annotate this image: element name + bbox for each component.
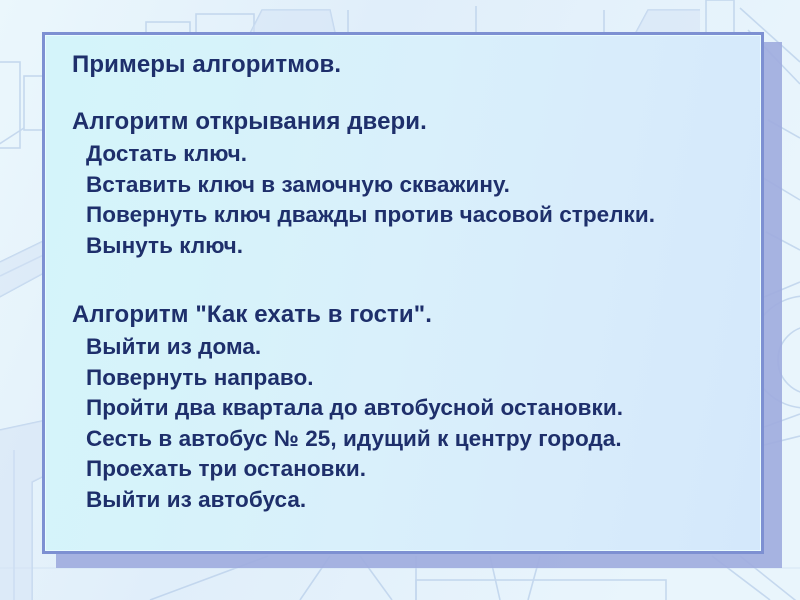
algorithm-step: Повернуть ключ дважды против часовой стр… <box>86 200 751 231</box>
algorithm-section-door: Алгоритм открывания двери. Достать ключ.… <box>72 106 751 261</box>
algorithm-step: Сесть в автобус № 25, идущий к центру го… <box>86 424 751 455</box>
algorithm-step: Выйти из автобуса. <box>86 485 751 516</box>
content-body: Примеры алгоритмов. Алгоритм открывания … <box>72 49 751 545</box>
section-heading: Алгоритм открывания двери. <box>72 106 751 137</box>
title-spacer <box>72 80 751 106</box>
section-spacer <box>72 261 751 299</box>
content-box: Примеры алгоритмов. Алгоритм открывания … <box>42 32 764 554</box>
slide-canvas: Примеры алгоритмов. Алгоритм открывания … <box>0 0 800 600</box>
algorithm-step: Выйти из дома. <box>86 332 751 363</box>
algorithm-step: Достать ключ. <box>86 139 751 170</box>
section-heading: Алгоритм "Как ехать в гости". <box>72 299 751 330</box>
algorithm-section-visit: Алгоритм "Как ехать в гости". Выйти из д… <box>72 299 751 515</box>
algorithm-step: Пройти два квартала до автобусной остано… <box>86 393 751 424</box>
algorithm-step: Вставить ключ в замочную скважину. <box>86 170 751 201</box>
algorithm-step: Повернуть направо. <box>86 363 751 394</box>
algorithm-step: Вынуть ключ. <box>86 231 751 262</box>
algorithm-step: Проехать три остановки. <box>86 454 751 485</box>
slide-title: Примеры алгоритмов. <box>72 49 751 80</box>
